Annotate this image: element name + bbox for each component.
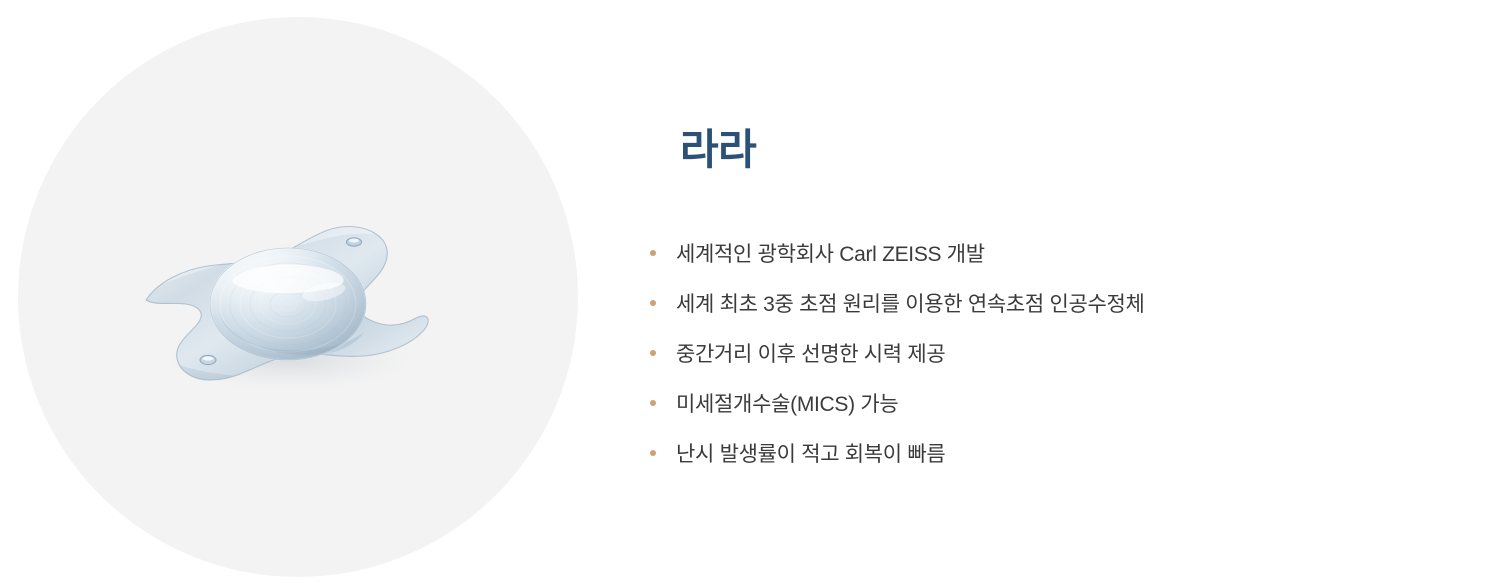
lens-central-optic <box>210 248 366 360</box>
feature-text: 난시 발생률이 적고 회복이 빠름 <box>676 438 945 468</box>
product-feature-list: 세계적인 광학회사 Carl ZEISS 개발 세계 최초 3중 초점 원리를 … <box>648 228 1468 478</box>
product-info-panel: 라라 세계적인 광학회사 Carl ZEISS 개발 세계 최초 3중 초점 원… <box>648 0 1468 583</box>
list-item: 중간거리 이후 선명한 시력 제공 <box>648 328 1468 378</box>
feature-text: 세계 최초 3중 초점 원리를 이용한 연속초점 인공수정체 <box>676 288 1145 318</box>
list-item: 미세절개수술(MICS) 가능 <box>648 378 1468 428</box>
product-detail-page: 라라 세계적인 광학회사 Carl ZEISS 개발 세계 최초 3중 초점 원… <box>0 0 1507 583</box>
bullet-icon <box>650 300 656 306</box>
bullet-icon <box>650 350 656 356</box>
bullet-icon <box>650 450 656 456</box>
feature-text: 중간거리 이후 선명한 시력 제공 <box>676 338 945 368</box>
intraocular-lens-photo <box>138 208 438 398</box>
page-title: 라라 <box>680 126 756 174</box>
feature-text: 미세절개수술(MICS) 가능 <box>676 388 898 418</box>
list-item: 세계적인 광학회사 Carl ZEISS 개발 <box>648 228 1468 278</box>
feature-text: 세계적인 광학회사 Carl ZEISS 개발 <box>676 238 985 268</box>
product-media-panel <box>18 17 578 577</box>
list-item: 난시 발생률이 적고 회복이 빠름 <box>648 428 1468 478</box>
bullet-icon <box>650 250 656 256</box>
bullet-icon <box>650 400 656 406</box>
list-item: 세계 최초 3중 초점 원리를 이용한 연속초점 인공수정체 <box>648 278 1468 328</box>
